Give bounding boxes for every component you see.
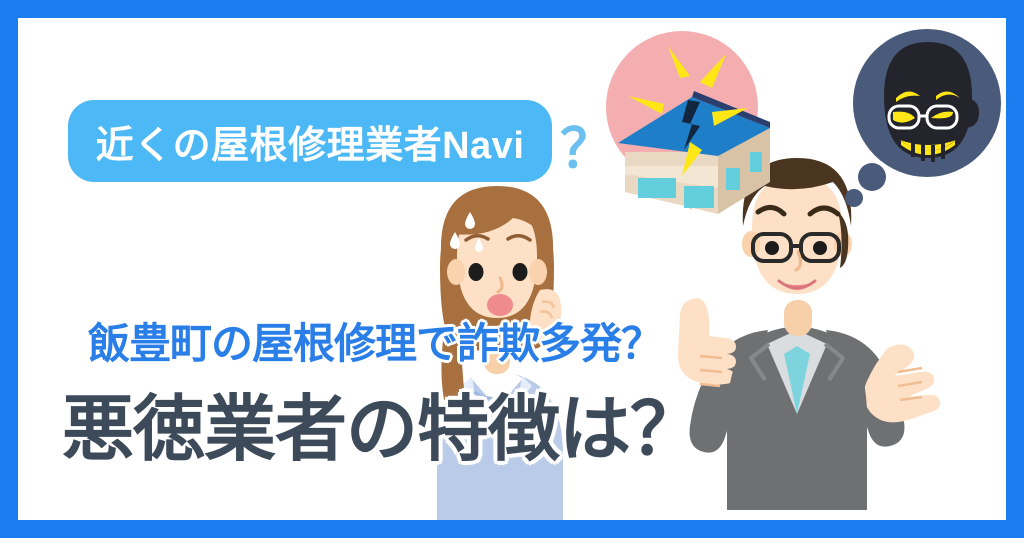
damaged-roof-speech-bubble — [606, 31, 770, 214]
main-headline: 悪徳業者の特徴は？ — [62, 370, 701, 475]
sub-headline: 飯豊町の屋根修理で詐欺多発？ — [88, 310, 662, 371]
scammer-thought-bubble — [845, 29, 1001, 207]
banner-canvas: 近くの屋根修理業者Navi ？ 飯豊町の屋根修理で詐欺多発？ 悪徳業者の特徴は？ — [0, 0, 1024, 538]
